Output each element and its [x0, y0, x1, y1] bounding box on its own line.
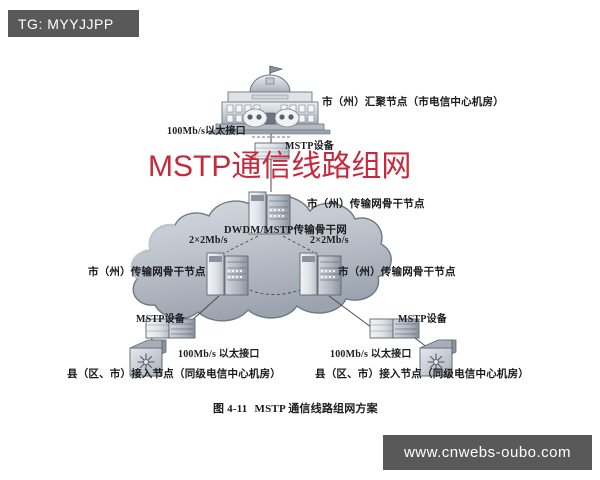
- label-access-node-left: 县（区、市）接入节点（同级电信中心机房）: [67, 366, 281, 381]
- label-access-node-right: 县（区、市）接入节点（同级电信中心机房）: [315, 366, 529, 381]
- label-backbone-node-top: 市（州）传输网骨干节点: [307, 196, 425, 211]
- label-top-aggregation-node: 市（州）汇聚节点（市电信中心机房）: [322, 94, 504, 109]
- label-ethernet-interface-top: 100Mb/s以太接口: [167, 122, 246, 137]
- label-backbone-node-right: 市（州）传输网骨干节点: [338, 264, 456, 279]
- watermark-bottom-right: www.cnwebs-oubo.com: [383, 435, 592, 470]
- figure-caption-text: MSTP 通信线路组网方案: [255, 403, 378, 415]
- network-topology-figure: 市（州）汇聚节点（市电信中心机房） 100Mb/s以太接口 MSTP设备 市（州…: [0, 0, 600, 480]
- label-rate-right: 2×2Mb/s: [310, 235, 349, 246]
- antenna-dish-right: [275, 109, 299, 127]
- label-backbone-node-left: 市（州）传输网骨干节点: [88, 264, 206, 279]
- overlay-title-text: MSTP通信线路组网: [148, 150, 411, 184]
- figure-caption: 图 4-11MSTP 通信线路组网方案: [213, 400, 378, 416]
- link-cloud-to-mstp-right: [329, 296, 375, 330]
- figure-caption-number: 图 4-11: [213, 403, 248, 415]
- label-mstp-device-bottom-left: MSTP设备: [136, 310, 185, 325]
- label-ethernet-interface-bottom-left: 100Mb/s 以太接口: [178, 345, 260, 360]
- backbone-node-right-icon: [300, 253, 341, 295]
- antenna-dish-left: [243, 109, 267, 127]
- backbone-node-left-icon: [207, 253, 248, 295]
- label-rate-left: 2×2Mb/s: [189, 235, 228, 246]
- label-mstp-device-bottom-right: MSTP设备: [398, 310, 447, 325]
- watermark-top-left: TG: MYYJJPP: [8, 10, 139, 37]
- label-ethernet-interface-bottom-right: 100Mb/s 以太接口: [330, 345, 412, 360]
